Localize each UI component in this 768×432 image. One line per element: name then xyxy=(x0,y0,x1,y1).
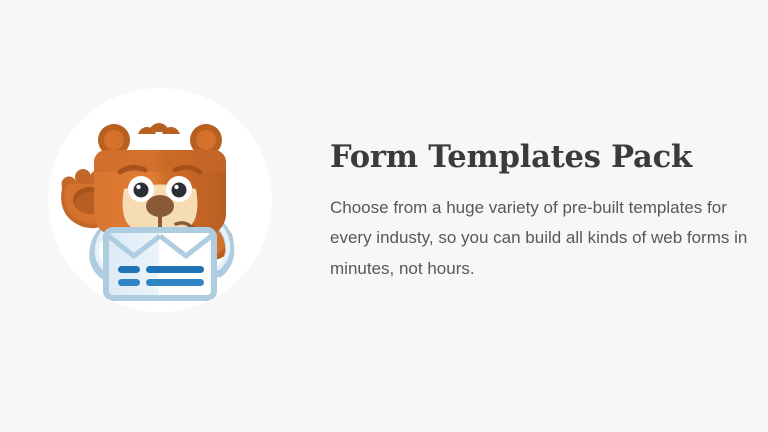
bear-head xyxy=(94,123,226,236)
bear-eye-left xyxy=(128,176,154,202)
form-row-field xyxy=(146,279,204,286)
bear-eye-right xyxy=(166,176,192,202)
web-form-document xyxy=(106,230,214,298)
bear-brow-shade xyxy=(94,150,226,172)
promo-card: Form Templates Pack Choose from a huge v… xyxy=(0,0,768,432)
mascot-illustration xyxy=(48,88,272,312)
form-row-field xyxy=(146,266,204,273)
bear-nose xyxy=(146,195,174,217)
promo-text-block: Form Templates Pack Choose from a huge v… xyxy=(330,140,750,284)
promo-description: Choose from a huge variety of pre-built … xyxy=(330,193,748,284)
mascot-circle-background xyxy=(48,88,272,312)
form-paper xyxy=(106,230,214,298)
bear-mascot-icon xyxy=(48,88,272,312)
form-row-label xyxy=(118,266,140,273)
page-title: Form Templates Pack xyxy=(330,140,750,174)
form-row-label xyxy=(118,279,140,286)
